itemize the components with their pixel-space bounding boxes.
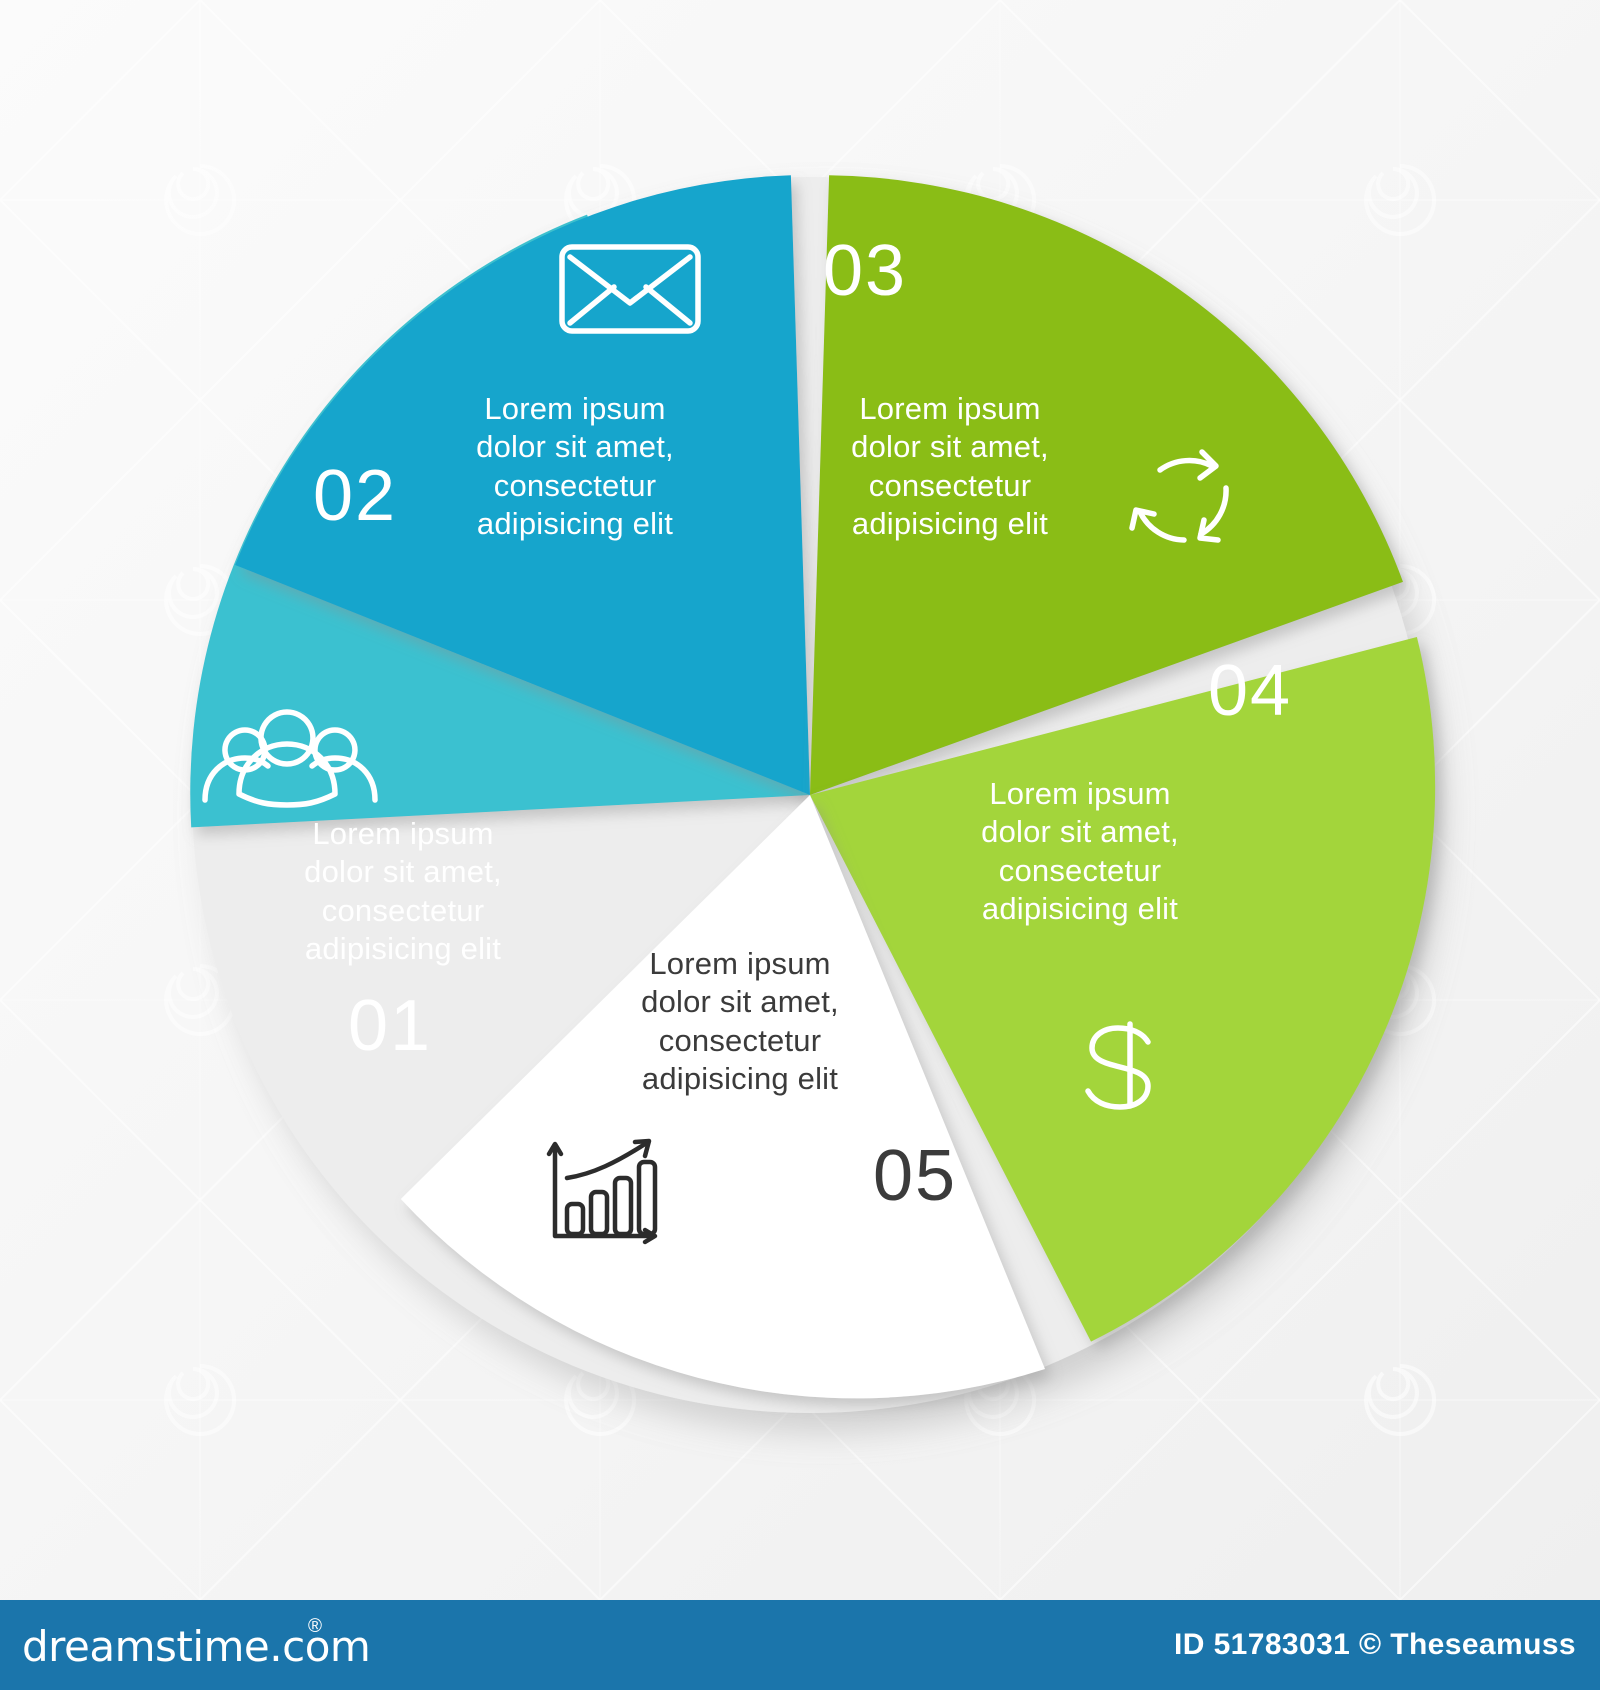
infographic-stage: Lorem ipsum dolor sit amet, consectetur … xyxy=(0,0,1600,1600)
watermark-footer-bar: dreamstime.com ® ID 51783031 © Theseamus… xyxy=(0,1600,1600,1690)
registered-mark-icon: ® xyxy=(308,1616,322,1638)
image-credit: ID 51783031 © Theseamuss xyxy=(1174,1628,1576,1662)
pie-chart xyxy=(0,0,1600,1600)
